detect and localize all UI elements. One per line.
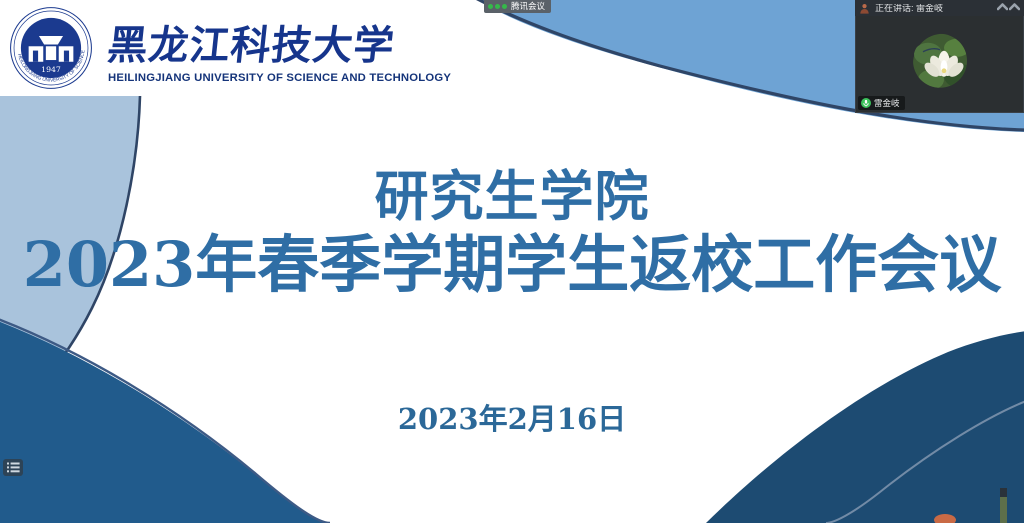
slide-menu-button[interactable]: [3, 459, 23, 476]
university-name-cn-text: 黑龙江科技大学: [105, 13, 398, 71]
participant-name-label: 雷金岐: [874, 99, 900, 108]
slide-date-label: 2023年2月16日: [0, 396, 1024, 438]
video-panel-titlebar[interactable]: 正在讲话: 雷金岐: [855, 0, 1024, 16]
video-participant-panel[interactable]: 正在讲话: 雷金岐: [855, 0, 1024, 113]
meeting-app-label: 腾讯会议: [511, 2, 545, 11]
microphone-on-icon: [861, 98, 871, 108]
crest-year-label: 1947: [41, 65, 61, 74]
lotus-flower-avatar-image: [913, 34, 967, 88]
slide-title-line-1: 研究生学院: [0, 166, 1024, 228]
crest-left-window: [33, 51, 38, 62]
minimize-button[interactable]: [495, 4, 500, 9]
bottom-edge-accent-cap: [1000, 488, 1007, 497]
double-chevron-collapse-icon[interactable]: [997, 2, 1020, 12]
close-button[interactable]: [488, 4, 493, 9]
university-name-en: HEILINGJIANG UNIVERSITY OF SCIENCE AND T…: [108, 72, 451, 84]
maximize-button[interactable]: [502, 4, 507, 9]
window-traffic-lights[interactable]: [488, 4, 507, 9]
tencent-meeting-badge[interactable]: 腾讯会议: [484, 0, 551, 13]
video-stage-area[interactable]: 雷金岐: [855, 16, 1024, 113]
avatar: [913, 34, 967, 88]
list-menu-icon: [7, 462, 20, 473]
crest-center-block: [46, 46, 56, 60]
participant-nametag: 雷金岐: [858, 96, 905, 110]
university-name-cn: 黑龙江科技大学: [108, 14, 398, 70]
brand-text-block: 黑龙江科技大学 HEILINGJIANG UNIVERSITY OF SCIEN…: [108, 12, 451, 84]
university-brand-header: 1947 HEILONGJIANG UNIVERSITY OF SCIENCE …: [0, 0, 460, 96]
university-crest-icon: 1947 HEILONGJIANG UNIVERSITY OF SCIENCE …: [8, 5, 94, 91]
presentation-screen-share: 1947 HEILONGJIANG UNIVERSITY OF SCIENCE …: [0, 0, 1024, 523]
speaker-avatar-icon: [859, 3, 870, 14]
speaking-status-label: 正在讲话: 雷金岐: [875, 4, 943, 13]
crest-right-window: [64, 51, 69, 62]
slide-title-line-2: 2023年春季学期学生返校工作会议: [0, 230, 1024, 301]
slide-title-block: 研究生学院 2023年春季学期学生返校工作会议: [0, 166, 1024, 300]
